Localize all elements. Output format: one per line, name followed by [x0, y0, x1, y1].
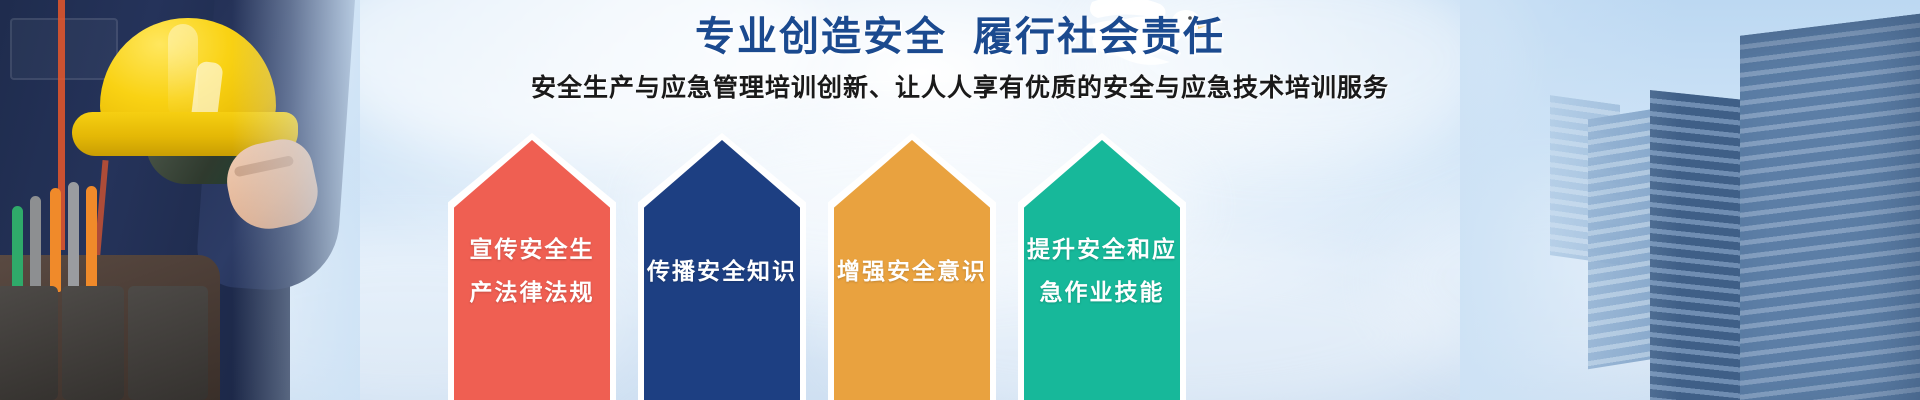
page-title: 专业创造安全履行社会责任 [0, 4, 1920, 62]
feature-badge-1[interactable]: 宣传安全生 产法律法规 [448, 133, 616, 400]
tool-item [30, 196, 41, 290]
badge-label: 传播安全知识 [638, 251, 806, 294]
page-subtitle: 安全生产与应急管理培训创新、让人人享有优质的安全与应急技术培训服务 [0, 68, 1920, 104]
safety-training-banner: 专业创造安全履行社会责任 安全生产与应急管理培训创新、让人人享有优质的安全与应急… [0, 0, 1920, 400]
tool-pouch [128, 286, 208, 400]
feature-badge-row: 宣传安全生 产法律法规 传播安全知识 增强安全意识 提升安全和应 急作业技能 [448, 133, 1186, 400]
feature-badge-3[interactable]: 增强安全意识 [828, 133, 996, 400]
tool-item [50, 188, 61, 292]
tool-item [68, 182, 79, 292]
feature-badge-4[interactable]: 提升安全和应 急作业技能 [1018, 133, 1186, 400]
tool-pouch [62, 286, 124, 400]
headline-part-1: 专业创造安全 [695, 14, 947, 60]
badge-label: 宣传安全生 产法律法规 [448, 229, 616, 315]
badge-label: 增强安全意识 [828, 251, 996, 294]
headline-part-2: 履行社会责任 [973, 14, 1225, 60]
tool-item [86, 186, 97, 292]
feature-badge-2[interactable]: 传播安全知识 [638, 133, 806, 400]
tool-item [12, 206, 23, 288]
badge-label: 提升安全和应 急作业技能 [1018, 229, 1186, 315]
tool-pouch [0, 286, 58, 400]
